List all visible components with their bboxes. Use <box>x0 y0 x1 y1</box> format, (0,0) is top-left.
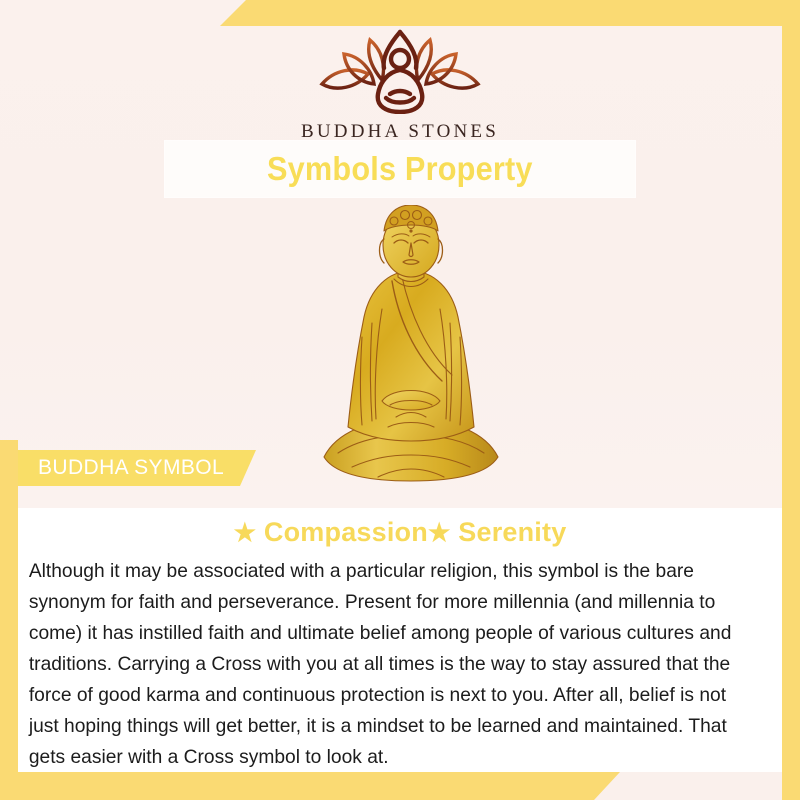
brand-wordmark: BUDDHA STONES <box>0 121 800 143</box>
title-banner: Symbols Property <box>165 141 635 197</box>
content-body-text: Although it may be associated with a par… <box>18 548 771 773</box>
buddha-symbol-tag-label: BUDDHA SYMBOL <box>18 456 224 480</box>
decor-frame-left <box>0 440 18 800</box>
brand-logo: BUDDHA STONES <box>0 26 800 143</box>
lotus-meditation-figure-icon <box>0 26 800 119</box>
seated-buddha-statue-icon <box>318 205 504 490</box>
subtitle-word-serenity: Serenity <box>458 517 566 547</box>
star-icon-left: ★ <box>234 519 257 547</box>
decor-frame-bottom <box>0 772 620 800</box>
buddha-symbol-tag: BUDDHA SYMBOL <box>18 450 256 486</box>
subtitle-word-compassion: Compassion <box>264 517 428 547</box>
star-icon-right: ★ <box>428 519 451 547</box>
content-panel: ★ Compassion★ Serenity Although it may b… <box>18 508 782 772</box>
decor-frame-top <box>220 0 800 26</box>
poster-root: BUDDHA STONES Symbols Property <box>0 0 800 800</box>
content-subtitle: ★ Compassion★ Serenity <box>18 508 782 548</box>
page-title: Symbols Property <box>267 150 533 188</box>
